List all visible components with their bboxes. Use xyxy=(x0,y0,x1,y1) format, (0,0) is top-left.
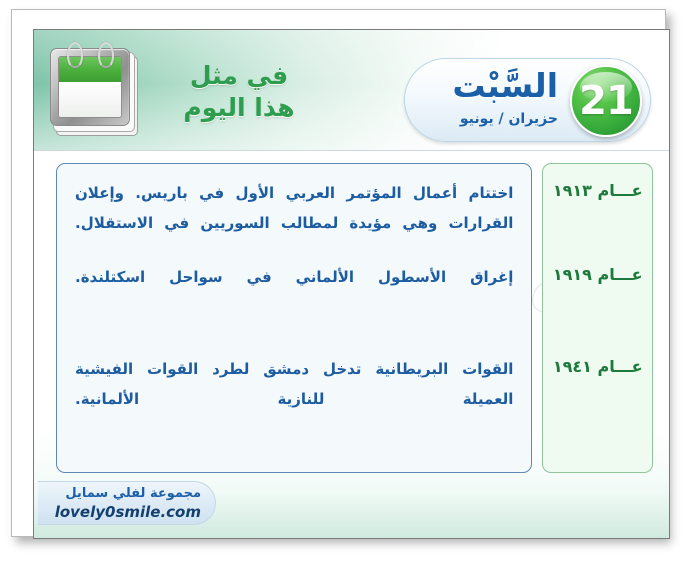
calendar-ring-right-icon xyxy=(98,42,114,68)
calendar-icon xyxy=(50,46,146,138)
list-item: إغراق الأسطول الألماني في سواحل اسكتلندة… xyxy=(75,262,513,354)
month-name: حزيران / يونيو xyxy=(460,109,558,129)
years-list: عـــام ١٩١٣ عـــام ١٩١٩ عـــام ١٩٤١ xyxy=(542,163,653,473)
event-year: عـــام ١٩٤١ xyxy=(549,354,646,380)
brand-url[interactable]: lovely0smile.com xyxy=(55,503,201,521)
inner-card: في مثل هذا اليوم السَّبْت حزيران / يونيو… xyxy=(33,29,670,539)
outer-card: في مثل هذا اليوم السَّبْت حزيران / يونيو… xyxy=(11,9,666,537)
calendar-body xyxy=(59,82,121,117)
content-row: اختتام أعمال المؤتمر العربي الأول في بار… xyxy=(56,163,653,473)
list-item: عـــام ١٩١٩ xyxy=(549,262,646,354)
list-item: عـــام ١٩١٣ xyxy=(549,178,646,262)
day-number: 21 xyxy=(572,67,640,135)
day-name: السَّبْت xyxy=(452,64,558,108)
brand-footer[interactable]: مجموعة لفلي سمايل lovely0smile.com xyxy=(38,481,216,525)
brand-name-arabic: مجموعة لفلي سمايل xyxy=(65,486,201,501)
event-text: إغراق الأسطول الألماني في سواحل اسكتلندة… xyxy=(75,262,513,292)
page-root: في مثل هذا اليوم السَّبْت حزيران / يونيو… xyxy=(0,0,692,561)
body-area: lovely0smile.com اختتام أعمال المؤتمر ال… xyxy=(34,150,669,539)
event-text: اختتام أعمال المؤتمر العربي الأول في بار… xyxy=(75,178,513,238)
calendar-sheet xyxy=(58,56,122,118)
calendar-frame xyxy=(50,48,130,126)
page-title-line2: هذا اليوم xyxy=(154,92,324,124)
list-item: عـــام ١٩٤١ xyxy=(549,354,646,438)
event-text: القوات البريطانية تدخل دمشق لطرد القوات … xyxy=(75,354,513,414)
list-item: اختتام أعمال المؤتمر العربي الأول في بار… xyxy=(75,178,513,262)
event-year: عـــام ١٩١٩ xyxy=(549,262,646,288)
event-year: عـــام ١٩١٣ xyxy=(549,178,646,204)
calendar-ring-left-icon xyxy=(67,42,83,68)
header-band: في مثل هذا اليوم السَّبْت حزيران / يونيو… xyxy=(34,30,669,150)
events-list: اختتام أعمال المؤتمر العربي الأول في بار… xyxy=(56,163,532,473)
page-title-line1: في مثل xyxy=(190,61,288,90)
date-badge: السَّبْت حزيران / يونيو 21 xyxy=(404,58,651,142)
list-item: القوات البريطانية تدخل دمشق لطرد القوات … xyxy=(75,354,513,438)
day-number-circle: 21 xyxy=(570,65,642,137)
page-title: في مثل هذا اليوم xyxy=(154,60,324,124)
